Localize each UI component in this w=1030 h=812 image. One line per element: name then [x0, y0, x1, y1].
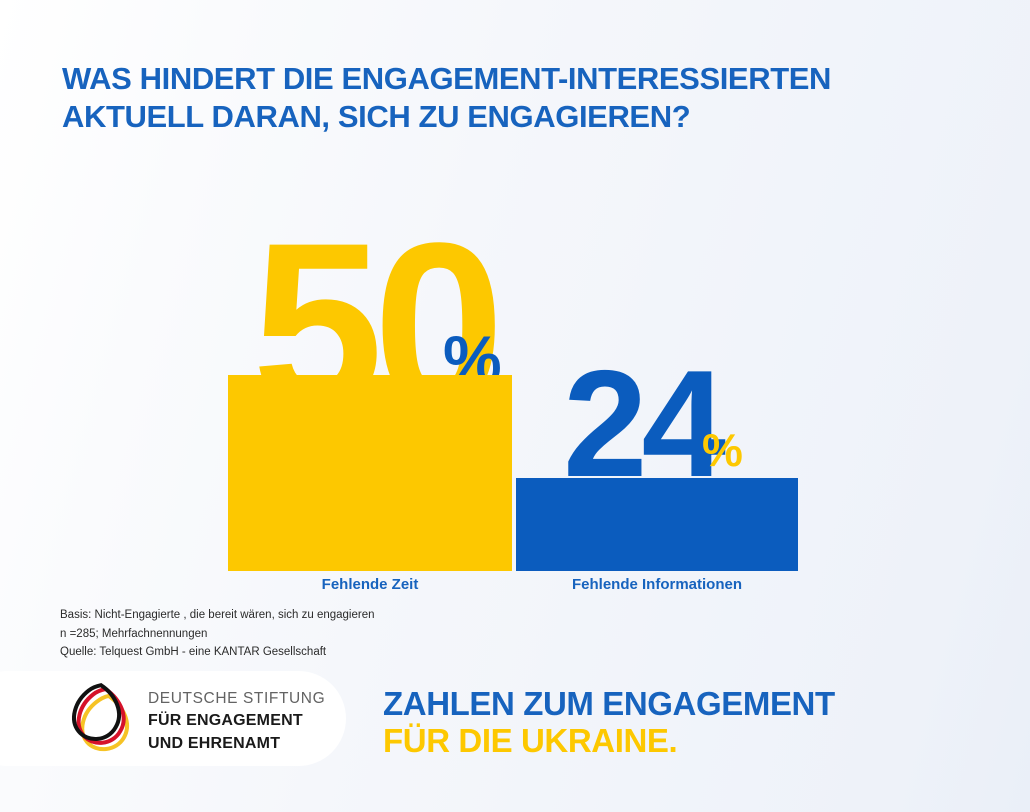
footnote-basis: Basis: Nicht-Engagierte , die bereit wär…	[60, 606, 375, 625]
logo-line-3: UND EHRENAMT	[148, 733, 325, 756]
bar-chart: 50 % 24 % Fehlende Zeit Fehlende Informa…	[0, 0, 1030, 600]
infographic-canvas: WAS HINDERT DIE ENGAGEMENT-INTERESSIERTE…	[0, 0, 1030, 812]
category-label-fehlende-informationen: Fehlende Informationen	[516, 576, 798, 593]
category-label-fehlende-zeit: Fehlende Zeit	[228, 576, 512, 593]
bar-fill-fehlende-informationen	[516, 478, 798, 571]
logo-line-2: FÜR ENGAGEMENT	[148, 710, 325, 733]
campaign-slogan: ZAHLEN ZUM ENGAGEMENT FÜR DIE UKRAINE.	[383, 686, 835, 760]
logo-wordmark: DEUTSCHE STIFTUNG FÜR ENGAGEMENT UND EHR…	[148, 688, 325, 755]
bar-fehlende-informationen[interactable]	[516, 478, 798, 571]
slogan-line-2: FÜR DIE UKRAINE.	[383, 723, 835, 760]
bar-fill-fehlende-zeit	[228, 375, 512, 571]
percent-sign-fehlende-informationen: %	[702, 427, 743, 473]
bar-fehlende-zeit[interactable]	[228, 375, 512, 571]
slogan-line-1: ZAHLEN ZUM ENGAGEMENT	[383, 686, 835, 723]
source-notes: Basis: Nicht-Engagierte , die bereit wär…	[60, 606, 375, 662]
footnote-source: Quelle: Telquest GmbH - eine KANTAR Gese…	[60, 643, 375, 662]
footnote-sample-size: n =285; Mehrfachnennungen	[60, 625, 375, 644]
stiftung-teardrop-logo-icon	[65, 679, 143, 759]
logo-line-1: DEUTSCHE STIFTUNG	[148, 688, 325, 710]
